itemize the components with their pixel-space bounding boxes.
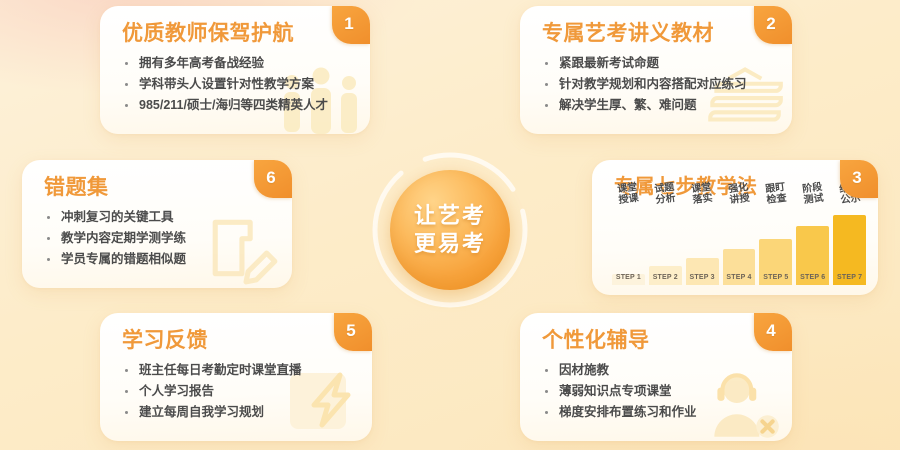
card-number-badge: 4 (754, 313, 792, 351)
chart-step-tick: STEP 5 (763, 274, 788, 285)
chart-bar: STEP 3 (686, 258, 719, 285)
chart-step-tick: STEP 7 (837, 274, 862, 285)
card-title: 错题集 (44, 176, 274, 199)
chart-bar-label: 课堂授课 (617, 182, 640, 206)
card-exclusive-textbooks[interactable]: 2 专属艺考讲义教材 紧跟最新考试命题 针对教学规划和内容搭配对应练习 解决学生… (520, 6, 792, 134)
card-number-badge: 3 (840, 160, 878, 198)
card-number-badge: 2 (754, 6, 792, 44)
list-item: 班主任每日考勤定时课堂直播 (122, 361, 354, 380)
card-bullet-list: 班主任每日考勤定时课堂直播 个人学习报告 建立每周自我学习规划 (122, 361, 354, 422)
card-title: 学习反馈 (122, 329, 354, 352)
chart-bar-label: 跟盯检查 (765, 182, 788, 206)
card-mistake-collection[interactable]: 6 错题集 冲刺复习的关键工具 教学内容定期学测学练 学员专属的错题相似题 (22, 160, 292, 288)
chart-bar: STEP 2 (649, 266, 682, 285)
chart-bar: STEP 5 (759, 239, 792, 285)
card-number-badge: 6 (254, 160, 292, 198)
chart-bar-label: 阶段测试 (801, 182, 824, 206)
card-title: 优质教师保驾护航 (122, 22, 352, 45)
chart-bar: STEP 7 (833, 215, 866, 285)
card-number-badge: 1 (332, 6, 370, 44)
seven-step-bar-chart: 课堂授课STEP 1试题分析STEP 2课堂落实STEP 3强化讲授STEP 4… (612, 207, 866, 285)
chart-bar-group: 阶段测试STEP 6 (796, 207, 829, 285)
chart-bar-label: 试题分析 (654, 182, 677, 206)
chart-bar-group: 课堂授课STEP 1 (612, 207, 645, 285)
list-item: 梯度安排布置练习和作业 (542, 403, 774, 422)
list-item: 建立每周自我学习规划 (122, 403, 354, 422)
card-bullet-list: 拥有多年高考备战经验 学科带头人设置针对性教学方案 985/211/硕士/海归等… (122, 54, 352, 115)
chart-bar-group: 结果公示STEP 7 (833, 207, 866, 285)
list-item: 因材施教 (542, 361, 774, 380)
card-number-badge: 5 (334, 313, 372, 351)
chart-bar: STEP 4 (723, 249, 756, 285)
list-item: 紧跟最新考试命题 (542, 54, 774, 73)
center-line-2: 更易考 (414, 230, 486, 258)
card-title: 专属艺考讲义教材 (542, 22, 774, 45)
list-item: 教学内容定期学测学练 (44, 229, 274, 248)
chart-bar: STEP 6 (796, 226, 829, 285)
list-item: 拥有多年高考备战经验 (122, 54, 352, 73)
center-orb: 让艺考 更易考 (390, 170, 510, 290)
chart-bar-group: 课堂落实STEP 3 (686, 207, 719, 285)
card-quality-teachers[interactable]: 1 优质教师保驾护航 拥有多年高考备战经验 学科带头人设置针对性教学方案 985… (100, 6, 370, 134)
card-number: 4 (766, 322, 779, 342)
chart-bar-label: 强化讲授 (728, 182, 751, 206)
center-line-1: 让艺考 (414, 202, 486, 230)
infographic-canvas: 1 优质教师保驾护航 拥有多年高考备战经验 学科带头人设置针对性教学方案 985… (0, 0, 900, 450)
list-item: 个人学习报告 (122, 382, 354, 401)
card-seven-step-method[interactable]: 3 专属七步教学法 课堂授课STEP 1试题分析STEP 2课堂落实STEP 3… (592, 160, 878, 295)
chart-step-tick: STEP 2 (653, 274, 678, 285)
card-learning-feedback[interactable]: 5 学习反馈 班主任每日考勤定时课堂直播 个人学习报告 建立每周自我学习规划 (100, 313, 372, 441)
card-bullet-list: 因材施教 薄弱知识点专项课堂 梯度安排布置练习和作业 (542, 361, 774, 422)
card-number: 3 (852, 169, 865, 189)
list-item: 985/211/硕士/海归等四类精英人才 (122, 96, 352, 115)
chart-bar-group: 试题分析STEP 2 (649, 207, 682, 285)
chart-step-tick: STEP 3 (690, 274, 715, 285)
card-bullet-list: 冲刺复习的关键工具 教学内容定期学测学练 学员专属的错题相似题 (44, 208, 274, 269)
card-title: 个性化辅导 (542, 329, 774, 352)
card-number: 2 (766, 15, 779, 35)
list-item: 解决学生厚、繁、难问题 (542, 96, 774, 115)
list-item: 针对教学规划和内容搭配对应练习 (542, 75, 774, 94)
chart-step-tick: STEP 4 (726, 274, 751, 285)
card-number: 6 (266, 169, 279, 189)
list-item: 薄弱知识点专项课堂 (542, 382, 774, 401)
list-item: 学科带头人设置针对性教学方案 (122, 75, 352, 94)
list-item: 冲刺复习的关键工具 (44, 208, 274, 227)
chart-bar-group: 跟盯检查STEP 5 (759, 207, 792, 285)
chart-bar-label: 课堂落实 (691, 182, 714, 206)
card-number: 1 (344, 15, 357, 35)
chart-bar-group: 强化讲授STEP 4 (723, 207, 756, 285)
card-bullet-list: 紧跟最新考试命题 针对教学规划和内容搭配对应练习 解决学生厚、繁、难问题 (542, 54, 774, 115)
chart-step-tick: STEP 6 (800, 274, 825, 285)
list-item: 学员专属的错题相似题 (44, 250, 274, 269)
card-number: 5 (346, 322, 359, 342)
chart-bar: STEP 1 (612, 274, 645, 285)
card-personalized-tutoring[interactable]: 4 个性化辅导 因材施教 薄弱知识点专项课堂 梯度安排布置练习和作业 (520, 313, 792, 441)
chart-step-tick: STEP 1 (616, 274, 641, 285)
center-medallion: 让艺考 更易考 (371, 163, 529, 297)
